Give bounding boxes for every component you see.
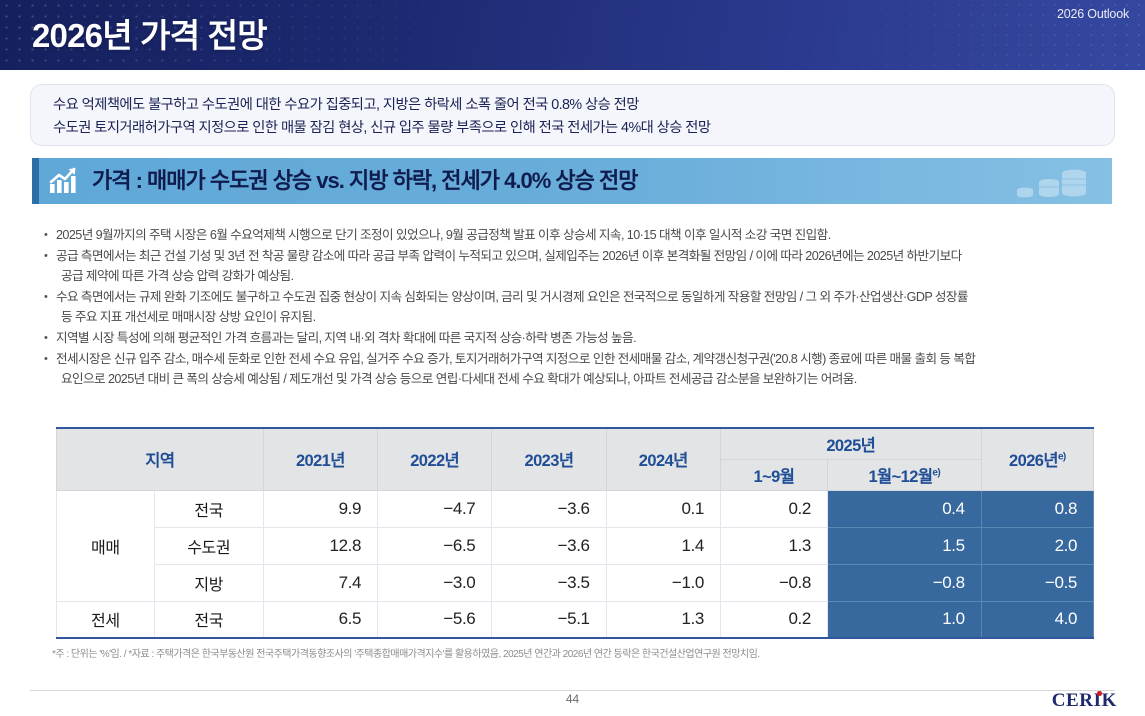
row-region-label: 전국: [154, 490, 263, 527]
chart-up-icon: [48, 167, 78, 195]
cell-2022: −5.6: [378, 601, 492, 638]
cell-2025-jan-sep: 1.3: [720, 527, 827, 564]
bullet-text: 수요 측면에서는 규제 완화 기조에도 불구하고 수도권 집중 현상이 지속 심…: [56, 290, 968, 304]
cell-2023: −3.6: [492, 490, 606, 527]
bullet-list: 2025년 9월까지의 주택 시장은 6월 수요억제책 시행으로 단기 조정이 …: [44, 226, 1119, 391]
price-forecast-table: 지역 2021년 2022년 2023년 2024년 2025년 2026년e)…: [56, 427, 1094, 639]
cell-2021: 9.9: [263, 490, 377, 527]
cell-2025-jan-sep: −0.8: [720, 564, 827, 601]
cell-2026: 2.0: [981, 527, 1093, 564]
cell-2024: 0.1: [606, 490, 720, 527]
col-header-2023: 2023년: [492, 428, 606, 490]
row-group-label-jeonse: 전세: [57, 601, 155, 638]
table-row: 전세 전국 6.5 −5.6 −5.1 1.3 0.2 1.0 4.0: [57, 601, 1094, 638]
col-header-2025-jan-dec: 1월~12월e): [827, 459, 981, 490]
table-row: 수도권 12.8 −6.5 −3.6 1.4 1.3 1.5 2.0: [57, 527, 1094, 564]
bullet-text-cont: 공급 제약에 따른 가격 상승 압력 강화가 예상됨.: [56, 267, 1119, 286]
cell-2023: −5.1: [492, 601, 606, 638]
cell-2024: −1.0: [606, 564, 720, 601]
list-item: 2025년 9월까지의 주택 시장은 6월 수요억제책 시행으로 단기 조정이 …: [44, 226, 1119, 245]
list-item: 공급 측면에서는 최근 건설 기성 및 3년 전 착공 물량 감소에 따라 공급…: [44, 247, 1119, 286]
bullet-text-cont: 요인으로 2025년 대비 큰 폭의 상승세 예상됨 / 제도개선 및 가격 상…: [56, 370, 1119, 389]
table-row: 매매 전국 9.9 −4.7 −3.6 0.1 0.2 0.4 0.8: [57, 490, 1094, 527]
cell-2025-jan-dec: −0.8: [827, 564, 981, 601]
row-region-label: 전국: [154, 601, 263, 638]
cell-2026: 4.0: [981, 601, 1093, 638]
cell-2023: −3.6: [492, 527, 606, 564]
list-item: 지역별 시장 특성에 의해 평균적인 가격 흐름과는 달리, 지역 내·외 격차…: [44, 329, 1119, 348]
row-group-label-sale: 매매: [57, 490, 155, 601]
cell-2026: 0.8: [981, 490, 1093, 527]
cell-2022: −4.7: [378, 490, 492, 527]
cell-2025-jan-dec: 1.5: [827, 527, 981, 564]
section-header-bar: 가격 : 매매가 수도권 상승 vs. 지방 하락, 전세가 4.0% 상승 전…: [32, 158, 1112, 204]
cell-2025-jan-sep: 0.2: [720, 490, 827, 527]
col-header-2024: 2024년: [606, 428, 720, 490]
col-header-region: 지역: [57, 428, 264, 490]
col-header-2025-jan-sep: 1~9월: [720, 459, 827, 490]
cell-2025-jan-sep: 0.2: [720, 601, 827, 638]
bullet-text: 지역별 시장 특성에 의해 평균적인 가격 흐름과는 달리, 지역 내·외 격차…: [56, 331, 636, 345]
footer-divider: [30, 690, 1115, 691]
cell-2024: 1.3: [606, 601, 720, 638]
slide-header-bar: 2026년 가격 전망 2026 Outlook: [0, 0, 1145, 70]
section-title: 가격 : 매매가 수도권 상승 vs. 지방 하락, 전세가 4.0% 상승 전…: [92, 167, 637, 195]
bullet-text: 공급 측면에서는 최근 건설 기성 및 3년 전 착공 물량 감소에 따라 공급…: [56, 249, 962, 263]
bullet-text: 전세시장은 신규 입주 감소, 매수세 둔화로 인한 전세 수요 유입, 실거주…: [56, 352, 975, 366]
outlook-tag: 2026 Outlook: [1057, 7, 1129, 21]
cell-2025-jan-dec: 0.4: [827, 490, 981, 527]
list-item: 수요 측면에서는 규제 완화 기조에도 불구하고 수도권 집중 현상이 지속 심…: [44, 288, 1119, 327]
cell-2021: 6.5: [263, 601, 377, 638]
cerik-logo-text: CERIK: [1052, 690, 1117, 711]
col-header-2026: 2026년e): [981, 428, 1093, 490]
table-footnote: *주 : 단위는 '%'임. / *자료 : 주택가격은 한국부동산원 전국주택…: [52, 648, 1102, 662]
page-title: 2026년 가격 전망: [32, 14, 267, 58]
cell-2021: 7.4: [263, 564, 377, 601]
summary-box: 수요 억제책에도 불구하고 수도권에 대한 수요가 집중되고, 지방은 하락세 …: [30, 84, 1115, 146]
bullet-text-cont: 등 주요 지표 개선세로 매매시장 상방 요인이 유지됨.: [56, 308, 1119, 327]
cell-2026: −0.5: [981, 564, 1093, 601]
col-header-2022: 2022년: [378, 428, 492, 490]
cell-2022: −6.5: [378, 527, 492, 564]
col-header-2025-group: 2025년: [720, 428, 981, 459]
cerik-logo-dot: [1097, 691, 1102, 696]
col-header-2021: 2021년: [263, 428, 377, 490]
cell-2025-jan-dec: 1.0: [827, 601, 981, 638]
cerik-logo: CERIK: [1052, 690, 1117, 712]
coin-stack-icon: [974, 160, 1104, 204]
cell-2024: 1.4: [606, 527, 720, 564]
summary-line-2: 수도권 토지거래허가구역 지정으로 인한 매물 잠김 현상, 신규 입주 물량 …: [53, 117, 1092, 140]
summary-line-1: 수요 억제책에도 불구하고 수도권에 대한 수요가 집중되고, 지방은 하락세 …: [53, 94, 1092, 117]
cell-2021: 12.8: [263, 527, 377, 564]
cell-2023: −3.5: [492, 564, 606, 601]
row-region-label: 수도권: [154, 527, 263, 564]
table-row: 지방 7.4 −3.0 −3.5 −1.0 −0.8 −0.8 −0.5: [57, 564, 1094, 601]
slide-2026-price-outlook: 2026년 가격 전망 2026 Outlook 수요 억제책에도 불구하고 수…: [0, 0, 1145, 716]
page-number: 44: [0, 692, 1145, 706]
list-item: 전세시장은 신규 입주 감소, 매수세 둔화로 인한 전세 수요 유입, 실거주…: [44, 350, 1119, 389]
cell-2022: −3.0: [378, 564, 492, 601]
row-region-label: 지방: [154, 564, 263, 601]
bullet-text: 2025년 9월까지의 주택 시장은 6월 수요억제책 시행으로 단기 조정이 …: [56, 228, 831, 242]
